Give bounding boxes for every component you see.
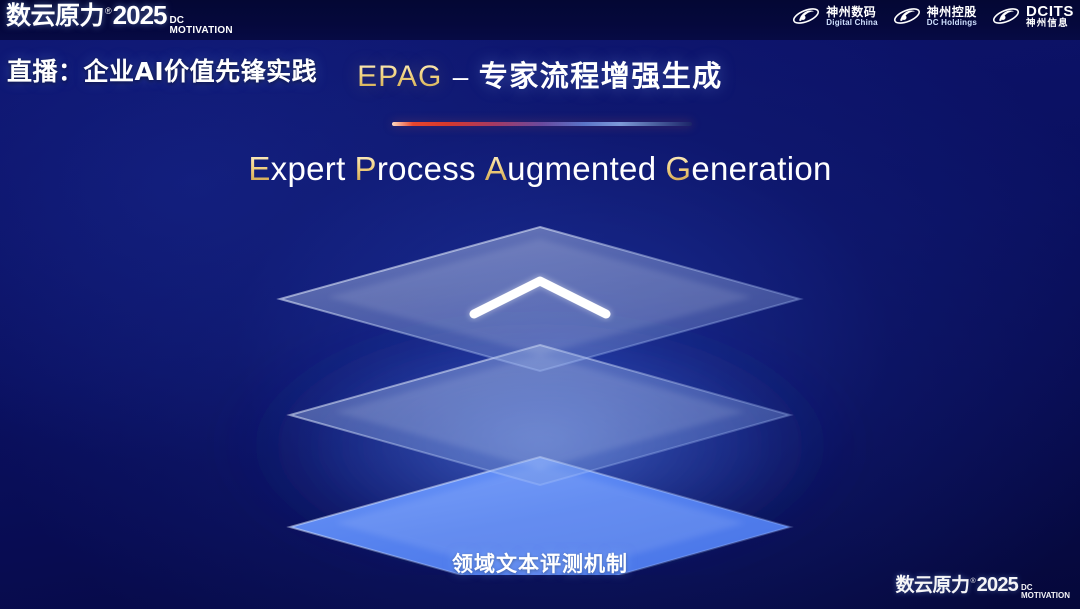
watermark-logo: 数云原力 ® 2025 DC MOTIVATION [895,575,1070,601]
title-chinese: 专家流程增强生成 [479,59,723,93]
partner-logo-dcits: DCITS 神州信息 [991,4,1074,29]
partner-name-cn: 神州信息 [1026,19,1074,29]
partner-logo-text: 神州数码 Digital China [826,6,878,27]
subtitle-rest: eneration [691,150,831,187]
partner-logos: 神州数码 Digital China 神州控股 DC Holdings [791,4,1074,29]
watermark-dc-motivation: DC MOTIVATION [1021,584,1070,600]
partner-name-cn: 神州控股 [927,6,977,19]
partner-name-cn: 神州数码 [826,6,878,19]
brand-registered-mark: ® [105,6,112,16]
subtitle-initial: A [485,150,507,187]
watermark-year: 2025 [977,575,1018,595]
brand-name-cn: 数云原力 [6,3,104,28]
partner-logo-text: DCITS 神州信息 [1026,4,1074,29]
presentation-slide: 数云原力 ® 2025 DC MOTIVATION 直播：企业AI价值先锋实践 … [0,0,1080,609]
subtitle-word-generation: Generation [665,150,831,187]
live-subtitle: 直播：企业AI价值先锋实践 [7,52,317,88]
swirl-logo-icon [991,4,1021,28]
subtitle-word-expert: Expert [248,150,345,187]
partner-name-en: DC Holdings [927,19,977,27]
brand-motivation-text: MOTIVATION [170,26,233,36]
layered-architecture-diagram: 领域文本评测机制 Dynamic MOE 长文本记忆 三类语义建模模块 [0,215,1080,575]
subtitle-rest: rocess [377,150,476,187]
title-acronym: EPAG [357,60,442,93]
subtitle-initial: G [665,150,691,187]
brand-year: 2025 [113,2,167,28]
watermark-motivation-text: MOTIVATION [1021,592,1070,600]
partner-name-en: Digital China [826,19,878,27]
partner-logo-text: 神州控股 DC Holdings [927,6,977,27]
brand-dc-motivation: DC MOTIVATION [170,16,233,36]
watermark-registered-mark: ® [971,578,976,585]
swirl-logo-icon [892,4,922,28]
gradient-divider [392,122,692,126]
subtitle-initial: P [355,150,377,187]
subtitle-rest: xpert [271,150,346,187]
partner-logo-dc-holdings: 神州控股 DC Holdings [892,4,977,28]
subtitle-word-process: Process [355,150,476,187]
subtitle-rest: ugmented [507,150,656,187]
diagram-canvas [0,215,1080,575]
brand-logo: 数云原力 ® 2025 DC MOTIVATION [6,2,233,37]
subtitle-word-augmented: Augmented [485,150,657,187]
subtitle-initial: E [248,150,270,187]
english-subtitle: ExpertProcessAugmentedGeneration [0,150,1080,188]
title-dash: – [453,61,469,92]
partner-logo-digital-china: 神州数码 Digital China [791,4,878,28]
swirl-logo-icon [791,4,821,28]
watermark-name-cn: 数云原力 [895,576,969,595]
partner-name-en: DCITS [1026,4,1074,19]
